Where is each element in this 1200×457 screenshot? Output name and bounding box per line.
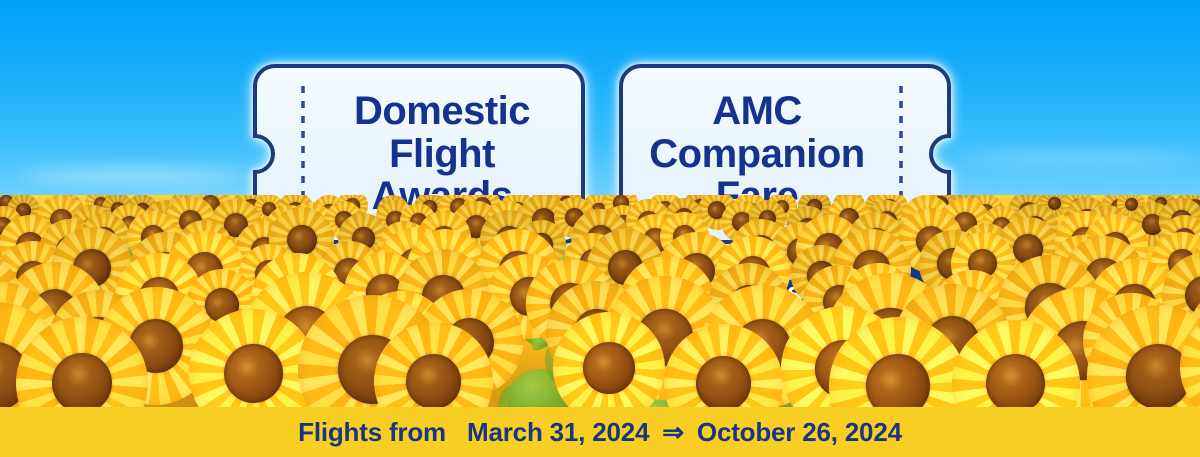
double-arrow-icon: ⇒ xyxy=(656,417,690,447)
sunflower-field-image xyxy=(0,195,1200,407)
promotional-banner: Domestic Flight Awards AMC Compa xyxy=(0,0,1200,457)
flight-period-prefix: Flights from xyxy=(298,417,446,447)
flight-period-text: Flights from March 31, 2024 ⇒ October 26… xyxy=(298,417,902,448)
flight-period-start-date: March 31, 2024 xyxy=(467,417,649,447)
flight-period-bar: Flights from March 31, 2024 ⇒ October 26… xyxy=(0,407,1200,457)
flight-period-end-date: October 26, 2024 xyxy=(697,417,902,447)
